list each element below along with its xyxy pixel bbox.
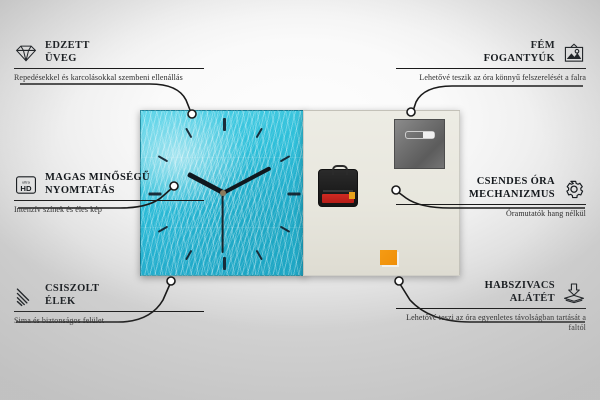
callout-title: CSISZOLTÉLEK: [45, 283, 99, 308]
callout-desc: Lehetővé teszik az óra könnyű felszerelé…: [396, 73, 586, 83]
callout-title: HABSZIVACSALÁTÉT: [485, 280, 555, 305]
foam-pad-icon: [562, 282, 586, 304]
callout-desc: Repedésekkel és karcolásokkal szembeni e…: [14, 73, 204, 83]
connector-tempered-glass: [20, 84, 190, 110]
polished-edges-icon: [14, 285, 38, 307]
ultra-hd-icon: ultra HD: [14, 174, 38, 196]
callout-header: ultra HD MAGAS MINŐSÉGŰNYOMTATÁS: [14, 172, 204, 197]
callout-polished-edges: CSISZOLTÉLEK Sima és biztonságos felület: [14, 283, 204, 326]
callout-high-quality-print: ultra HD MAGAS MINŐSÉGŰNYOMTATÁS Intenzí…: [14, 172, 204, 215]
clock-marker: [223, 257, 226, 270]
callout-desc: Intenzív színek és éles kép: [14, 205, 204, 215]
callout-rule: [14, 200, 204, 201]
diamond-icon: [14, 42, 38, 64]
svg-text:HD: HD: [20, 184, 32, 193]
callout-header: FÉMFOGANTYÚK: [396, 40, 586, 65]
callout-rule: [396, 68, 586, 69]
callout-rule: [396, 204, 586, 205]
foam-pad: [380, 250, 397, 265]
callout-header: EDZETTÜVEG: [14, 40, 204, 65]
infographic-canvas: EDZETTÜVEG Repedésekkel és karcolásokkal…: [0, 0, 600, 400]
callout-title: FÉMFOGANTYÚK: [484, 40, 555, 65]
callout-rule: [396, 308, 586, 309]
callout-desc: Sima és biztonságos felület: [14, 316, 204, 326]
battery: [322, 194, 354, 203]
clock-second-hand: [222, 193, 224, 253]
picture-hanger-icon: [562, 42, 586, 64]
callout-header: CSENDES ÓRAMECHANIZMUS: [396, 176, 586, 201]
metal-hanger-plate: [394, 119, 445, 169]
callout-desc: Lehetővé teszi az óra egyenletes távolsá…: [396, 313, 586, 333]
callout-title: EDZETTÜVEG: [45, 40, 90, 65]
callout-header: CSISZOLTÉLEK: [14, 283, 204, 308]
callout-desc: Óramutatók hang nélkül: [396, 209, 586, 219]
hanger-slot: [405, 131, 435, 139]
mechanism-hook: [332, 165, 348, 175]
callout-silent-mechanism: CSENDES ÓRAMECHANIZMUS Óramutatók hang n…: [396, 176, 586, 219]
callout-tempered-glass: EDZETTÜVEG Repedésekkel és karcolásokkal…: [14, 40, 204, 83]
callout-header: HABSZIVACSALÁTÉT: [396, 280, 586, 305]
callout-title: MAGAS MINŐSÉGŰNYOMTATÁS: [45, 172, 150, 197]
clock-marker: [223, 118, 226, 131]
callout-metal-handles: FÉMFOGANTYÚK Lehetővé teszik az óra könn…: [396, 40, 586, 83]
gear-icon: [562, 178, 586, 200]
callout-rule: [14, 311, 204, 312]
callout-rule: [14, 68, 204, 69]
clock-mechanism: [318, 169, 358, 207]
clock-center-pin: [220, 190, 226, 196]
clock-marker: [288, 193, 301, 196]
callout-foam-pad: HABSZIVACSALÁTÉT Lehetővé teszi az óra e…: [396, 280, 586, 333]
callout-title: CSENDES ÓRAMECHANIZMUS: [469, 176, 555, 201]
